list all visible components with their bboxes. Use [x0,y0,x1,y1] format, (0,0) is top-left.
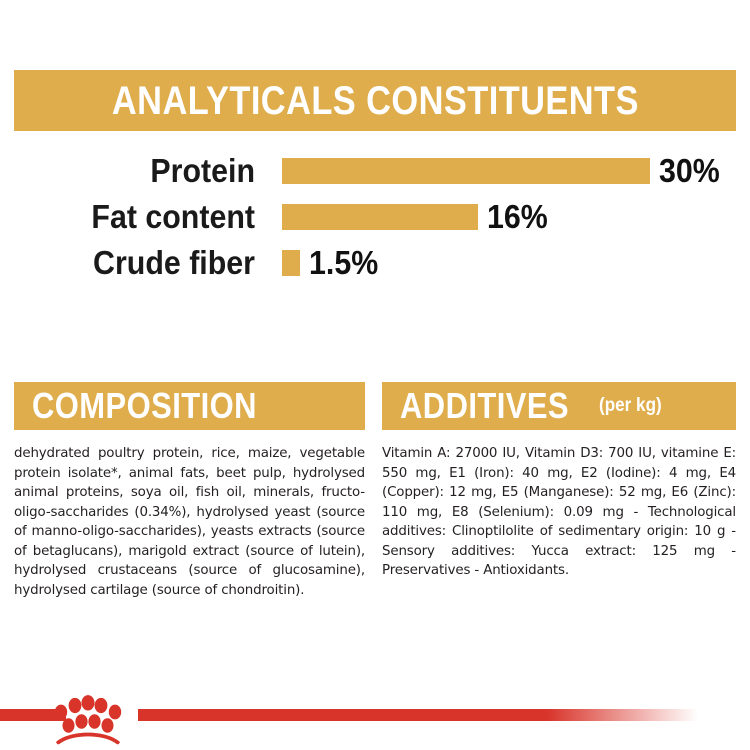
chart-label-protein: Protein [20,154,255,188]
additives-body-text: Vitamin A: 27000 IU, Vitamin D3: 700 IU,… [382,444,736,581]
chart-bar-zone-crude-fiber: 1.5% [282,246,384,280]
chart-bar-fat-content [282,204,478,230]
chart-bar-zone-fat-content: 16% [282,200,553,234]
composition-body-text: dehydrated poultry protein, rice, maize,… [14,444,365,600]
footer-rule-right [138,709,698,721]
chart-bar-zone-protein: 30% [282,154,725,188]
additives-section: ADDITIVES (per kg) Vitamin A: 27000 IU, … [382,382,736,581]
chart-row-protein: Protein 30% [0,148,750,194]
analytics-banner-title: ANALYTICALS CONSTITUENTS [112,81,639,121]
footer-logo [0,693,750,750]
composition-section: COMPOSITION dehydrated poultry protein, … [14,382,365,600]
chart-label-fat-content: Fat content [20,200,255,234]
chart-label-crude-fiber: Crude fiber [20,246,255,280]
chart-bar-protein [282,158,650,184]
chart-value-crude-fiber: 1.5% [309,246,378,280]
additives-banner-suffix: (per kg) [599,395,662,417]
crown-icon [50,693,126,745]
chart-row-crude-fiber: Crude fiber 1.5% [0,240,750,286]
analytics-constituents-banner: ANALYTICALS CONSTITUENTS [14,70,736,131]
chart-value-fat-content: 16% [487,200,548,234]
chart-row-fat-content: Fat content 16% [0,194,750,240]
constituents-bar-chart: Protein 30% Fat content 16% Crude fiber … [0,148,750,286]
additives-banner: ADDITIVES (per kg) [382,382,736,430]
composition-banner-title: COMPOSITION [32,388,257,424]
additives-banner-title: ADDITIVES [400,388,569,424]
composition-banner: COMPOSITION [14,382,365,430]
chart-bar-crude-fiber [282,250,300,276]
chart-value-protein: 30% [659,154,720,188]
